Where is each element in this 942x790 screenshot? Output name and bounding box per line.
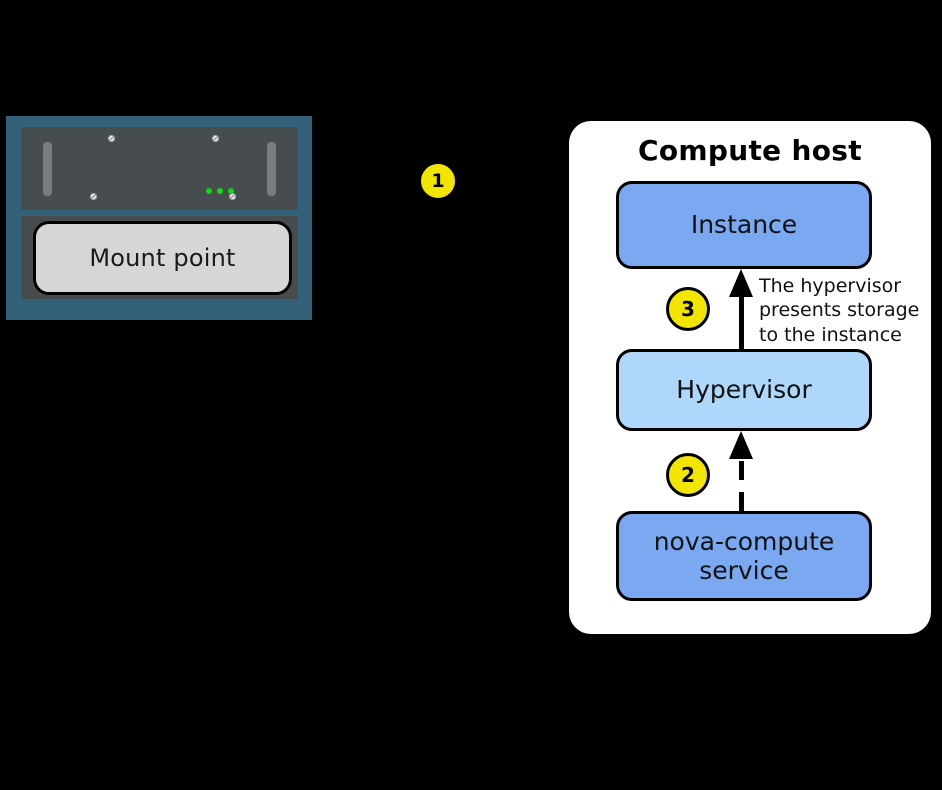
compute-host-title: Compute host <box>569 134 931 167</box>
screw-icon <box>229 193 236 200</box>
step-badge-1: 1 <box>418 161 458 201</box>
step-badge-2: 2 <box>666 453 710 497</box>
screw-icon <box>108 135 115 142</box>
node-nova-compute-label-line-2: service <box>654 556 835 586</box>
step-badge-1-number: 1 <box>431 170 444 192</box>
hypervisor-annotation-line-2: presents storage <box>759 298 935 322</box>
arrowhead-up-icon <box>729 431 753 459</box>
storage-server-unit-top <box>21 127 298 210</box>
node-instance: Instance <box>616 181 872 269</box>
hypervisor-annotation-line-1: The hypervisor <box>759 274 935 298</box>
status-led-icon <box>217 188 223 194</box>
node-hypervisor: Hypervisor <box>616 349 872 431</box>
drive-handle-left-icon <box>43 142 52 196</box>
node-nova-compute-label-line-1: nova-compute <box>654 527 835 557</box>
step-badge-3: 3 <box>666 287 710 331</box>
status-led-icon <box>228 188 234 194</box>
node-instance-label: Instance <box>691 210 797 240</box>
step-badge-2-number: 2 <box>681 463 695 487</box>
arrow-nova-to-hypervisor <box>737 431 745 511</box>
mount-point-box: Mount point <box>33 221 292 295</box>
node-nova-compute-service: nova-compute service <box>616 511 872 601</box>
step-badge-3-number: 3 <box>681 297 695 321</box>
hypervisor-annotation: The hypervisor presents storage to the i… <box>759 274 935 347</box>
compute-host-panel: Compute host Instance The hypervisor pre… <box>569 121 931 634</box>
screw-icon <box>212 135 219 142</box>
mount-point-label: Mount point <box>89 244 235 272</box>
screw-icon <box>90 193 97 200</box>
arrow-hypervisor-to-instance <box>737 269 745 349</box>
status-led-icon <box>206 188 212 194</box>
drive-handle-right-icon <box>267 142 276 196</box>
hypervisor-annotation-line-3: to the instance <box>759 323 935 347</box>
node-hypervisor-label: Hypervisor <box>676 375 811 405</box>
arrow-shaft-dashed <box>739 461 744 511</box>
arrow-shaft <box>739 293 744 349</box>
